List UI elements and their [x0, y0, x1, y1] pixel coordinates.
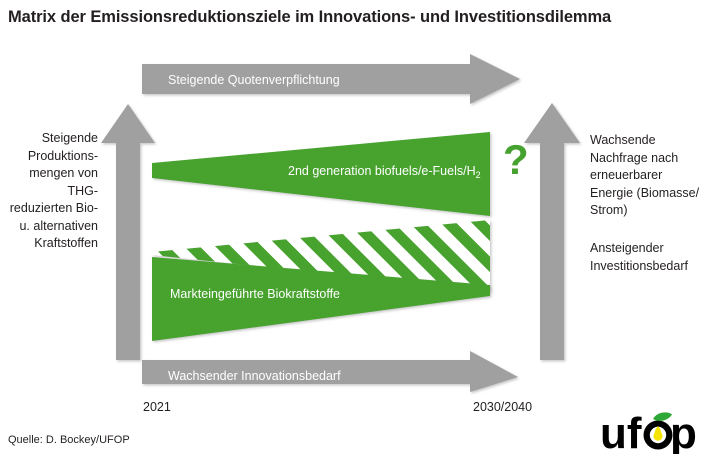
left-arrow [101, 104, 155, 360]
right-side-text-investment: Ansteigender Investitionsbedarf [590, 240, 702, 275]
ufop-logo: uf p [600, 406, 698, 454]
ufop-logo-seed-body [653, 431, 662, 440]
bottom-arrow [142, 351, 518, 392]
ufop-logo-text-right: p [670, 409, 697, 454]
question-mark-icon: ? [503, 139, 529, 181]
infographic-canvas: Matrix der Emissionsreduktionsziele im I… [0, 0, 705, 460]
source-note: Quelle: D. Bockey/UFOP [8, 434, 130, 446]
left-side-text: Steigende Produktions-mengen von THG-red… [8, 130, 98, 253]
right-arrow [524, 103, 580, 360]
wedge-second-generation [152, 132, 490, 216]
top-arrow [142, 54, 520, 104]
right-side-text-demand: Wachsende Nachfrage nach erneuerbarer En… [590, 132, 702, 220]
year-label-end: 2030/2040 [473, 400, 532, 414]
diagram-graphics [0, 0, 705, 460]
ufop-logo-text-left: uf [600, 409, 642, 454]
year-label-start: 2021 [143, 400, 171, 414]
